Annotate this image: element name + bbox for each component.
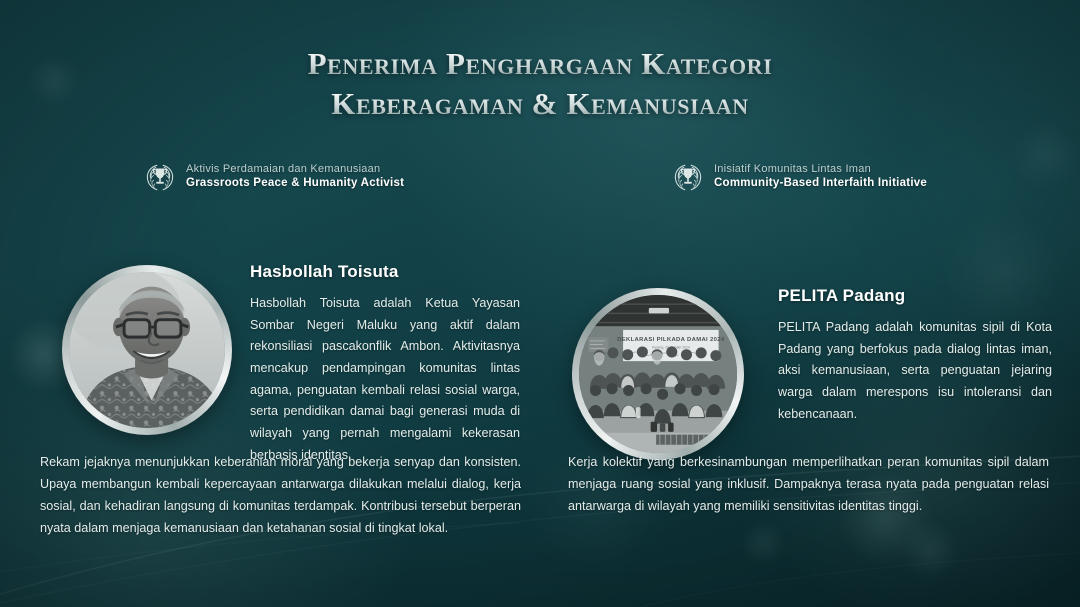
laurel-trophy-icon xyxy=(143,160,177,194)
profile-right: DEKLARASI PILKADA DAMAI 2024 Padang, 20 … xyxy=(568,194,1052,425)
bokeh-orb xyxy=(900,520,960,580)
badge-subtitle: Inisiatif Komunitas Lintas Iman xyxy=(714,163,927,176)
award-card-left: Aktivis Perdamaian dan Kemanusiaan Grass… xyxy=(40,160,520,466)
recipient-name: PELITA Padang xyxy=(778,286,1052,306)
title-line-2: Keberagaman & Kemanusiaan xyxy=(0,84,1080,124)
avatar-hasbollah-toisuta xyxy=(62,265,232,435)
bokeh-orb xyxy=(740,520,786,566)
category-badge-left: Aktivis Perdamaian dan Kemanusiaan Grass… xyxy=(40,160,520,194)
badge-title: Grassroots Peace & Humanity Activist xyxy=(186,177,404,191)
category-badge-text-left: Aktivis Perdamaian dan Kemanusiaan Grass… xyxy=(186,163,404,191)
badge-title: Community-Based Interfaith Initiative xyxy=(714,177,927,191)
recipient-description: Hasbollah Toisuta adalah Ketua Yayasan S… xyxy=(250,293,520,466)
title-line-1: Penerima Penghargaan Kategori xyxy=(0,44,1080,84)
laurel-trophy-icon xyxy=(671,160,705,194)
badge-subtitle: Aktivis Perdamaian dan Kemanusiaan xyxy=(186,163,404,176)
page-title: Penerima Penghargaan Kategori Keberagama… xyxy=(0,44,1080,125)
category-badge-right: Inisiatif Komunitas Lintas Iman Communit… xyxy=(568,160,1052,194)
recipient-description: PELITA Padang adalah komunitas sipil di … xyxy=(778,317,1052,425)
profile-text-left: Hasbollah Toisuta Hasbollah Toisuta adal… xyxy=(250,194,520,466)
award-card-right: Inisiatif Komunitas Lintas Iman Communit… xyxy=(568,160,1052,425)
profile-text-right: PELITA Padang PELITA Padang adalah komun… xyxy=(778,194,1052,425)
category-badge-text-right: Inisiatif Komunitas Lintas Iman Communit… xyxy=(714,163,927,191)
impact-statement-left: Rekam jejaknya menunjukkan keberanian mo… xyxy=(40,451,521,540)
award-slide: Penerima Penghargaan Kategori Keberagama… xyxy=(0,0,1080,607)
profile-left: Hasbollah Toisuta Hasbollah Toisuta adal… xyxy=(40,194,520,466)
recipient-name: Hasbollah Toisuta xyxy=(250,262,520,282)
avatar-pelita-padang: DEKLARASI PILKADA DAMAI 2024 Padang, 20 … xyxy=(572,288,744,460)
svg-text:DEKLARASI PILKADA DAMAI 2024: DEKLARASI PILKADA DAMAI 2024 xyxy=(617,337,725,343)
impact-statement-right: Kerja kolektif yang berkesinambungan mem… xyxy=(568,451,1049,517)
